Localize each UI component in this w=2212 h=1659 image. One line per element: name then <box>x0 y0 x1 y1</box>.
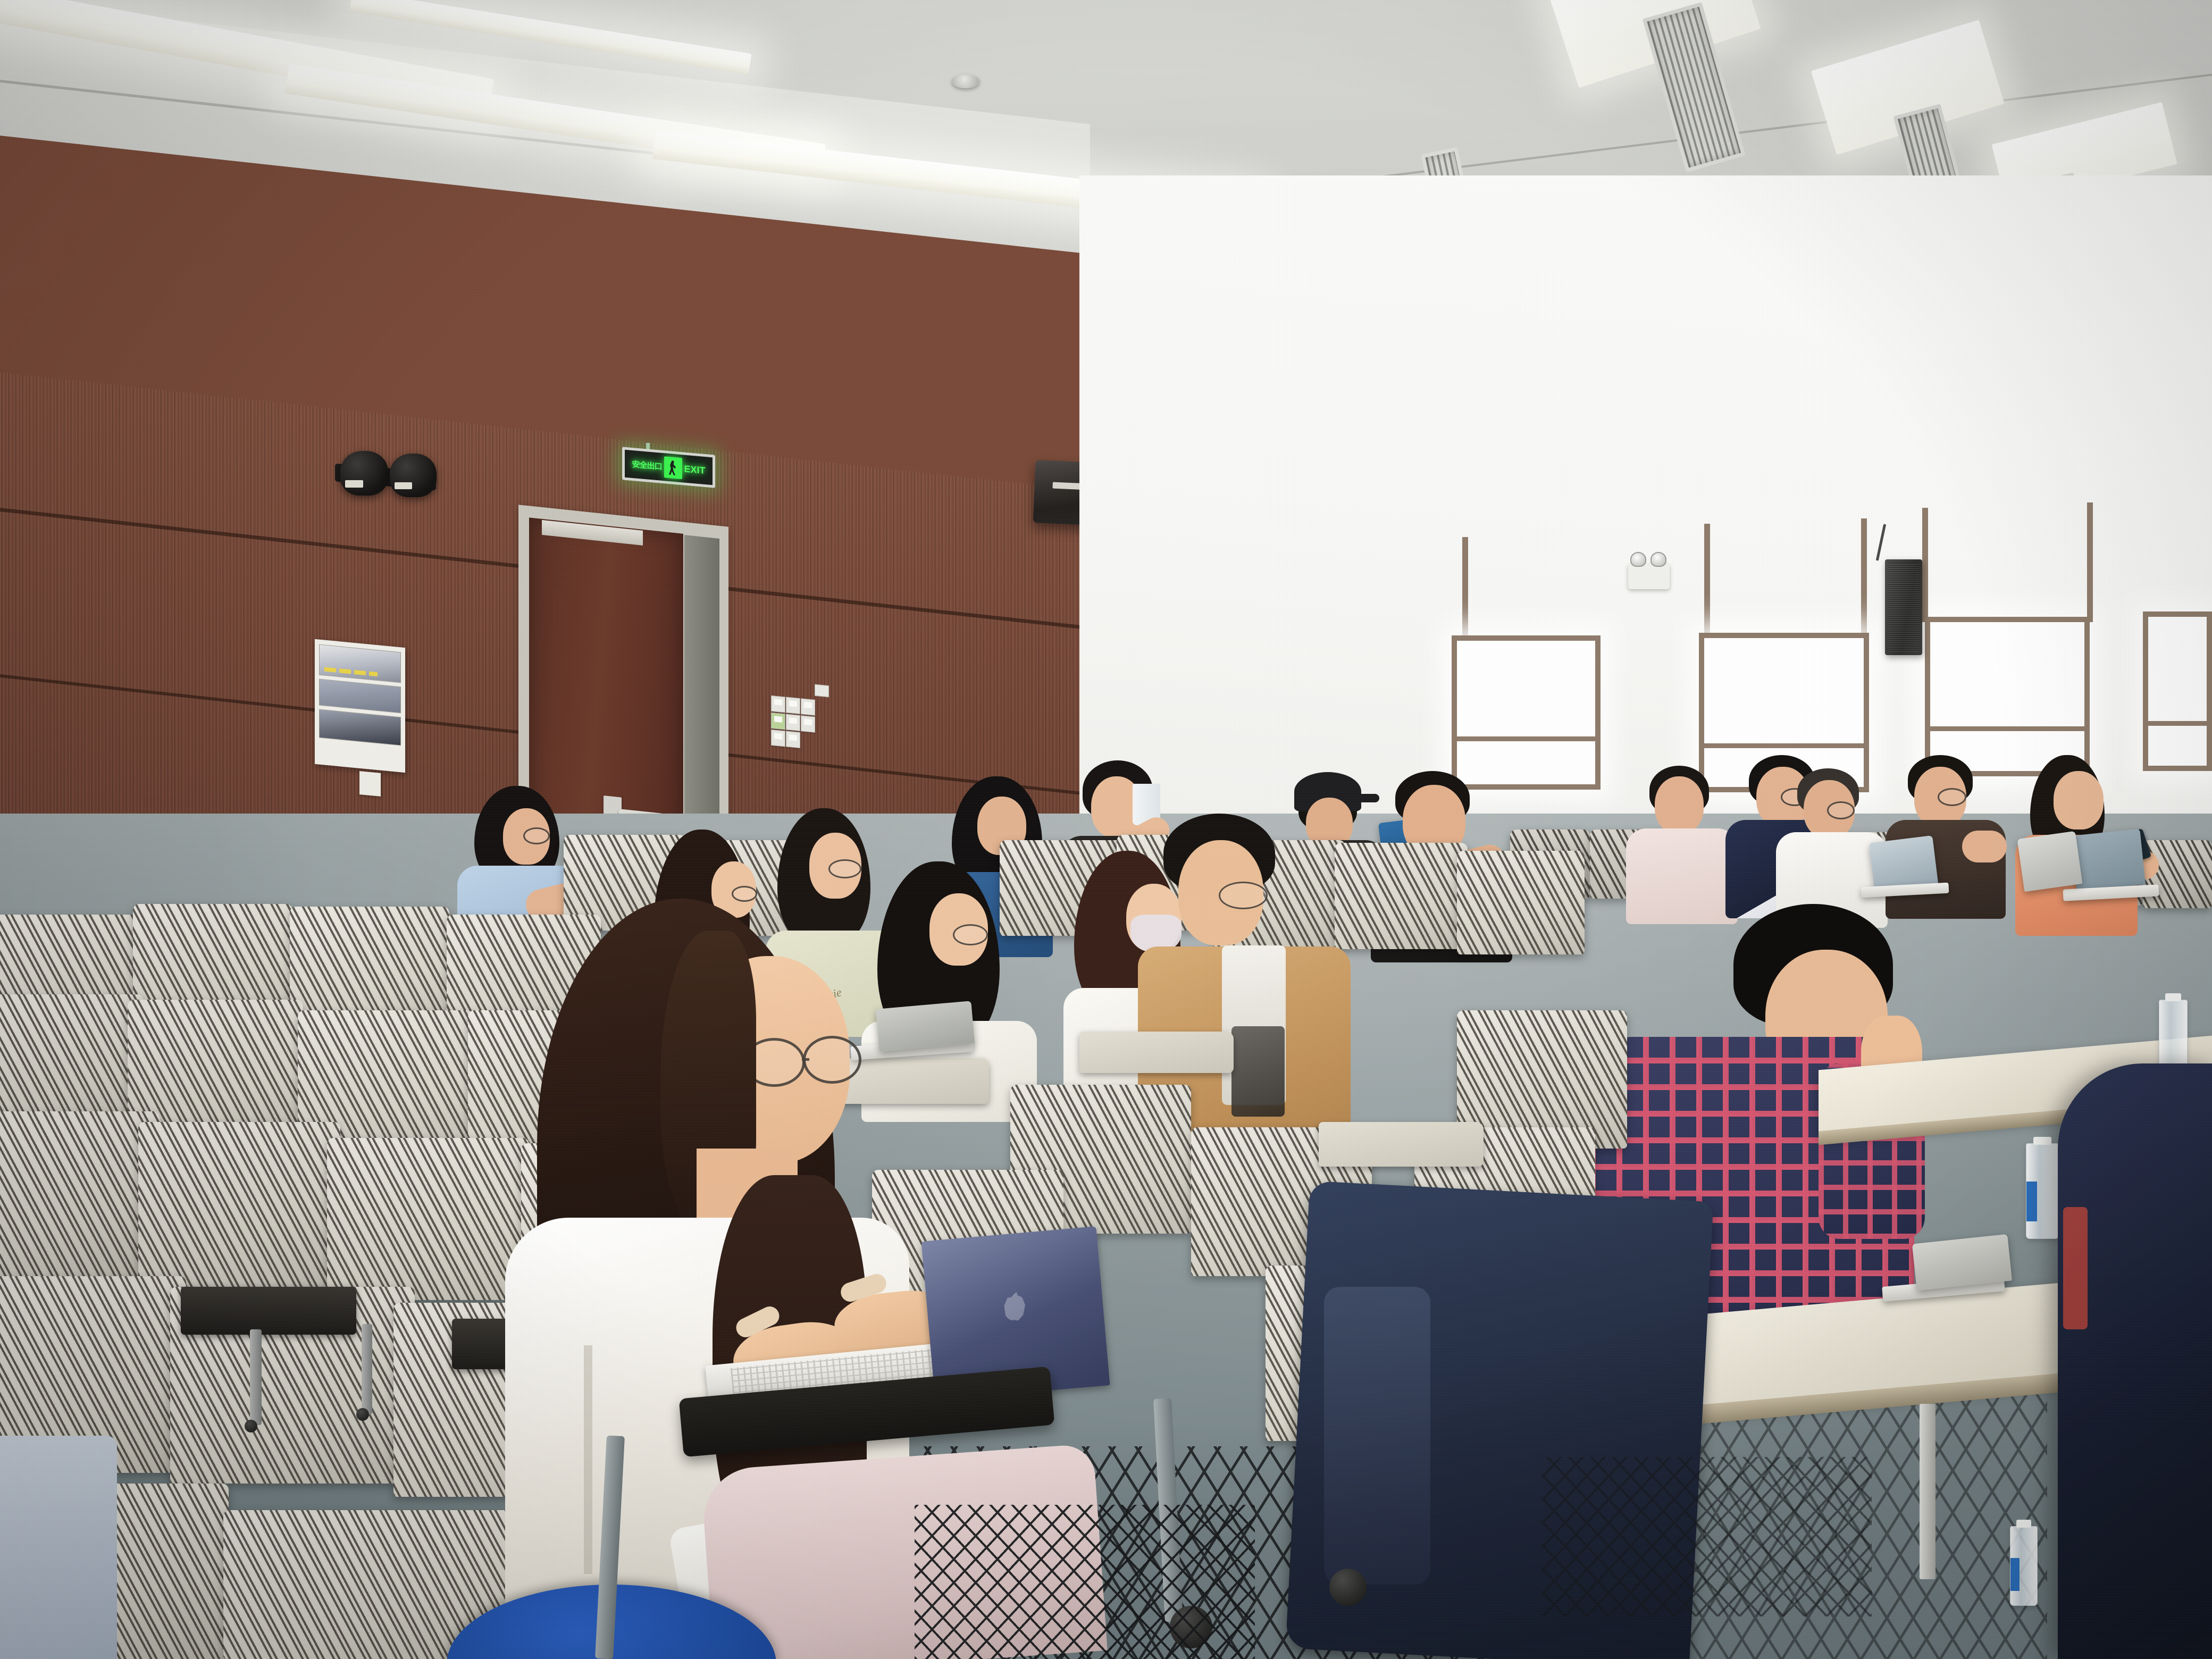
chair-tablet-arm[interactable] <box>1079 1032 1239 1074</box>
person-navy-coat <box>2058 1063 2212 1659</box>
window <box>1925 617 2090 776</box>
jacket-fold <box>1324 1287 1430 1585</box>
water-bottle[interactable] <box>2026 1143 2059 1239</box>
poster-image <box>319 644 401 683</box>
window-frame-post <box>1462 537 1468 641</box>
emergency-light <box>1628 564 1670 589</box>
chair-caster <box>1329 1569 1367 1606</box>
wall-notice-card <box>359 771 381 797</box>
under-seat-basket <box>915 1505 1255 1659</box>
window-frame-post <box>2087 502 2093 622</box>
laptop[interactable] <box>1912 1234 2012 1291</box>
water-bottle[interactable] <box>2010 1526 2038 1606</box>
wall-speaker-icon <box>390 454 437 497</box>
wall-poster <box>315 639 405 773</box>
chair[interactable] <box>1457 851 1585 954</box>
chair[interactable] <box>138 1122 340 1287</box>
tee-graphic-print <box>1231 1026 1285 1117</box>
poster-image <box>319 679 401 714</box>
laptop[interactable] <box>2017 831 2083 892</box>
wall-speaker-icon <box>340 451 388 496</box>
person-left-edge-partial <box>0 1436 117 1659</box>
light-switch[interactable] <box>771 730 785 747</box>
window-frame-post <box>1861 518 1867 638</box>
projector-label <box>1052 482 1082 490</box>
light-switch[interactable] <box>801 698 815 716</box>
window-frame-post <box>1704 524 1710 638</box>
window <box>2143 611 2212 771</box>
running-man-icon <box>664 456 682 479</box>
chair[interactable] <box>0 1111 160 1276</box>
window <box>1452 635 1601 790</box>
poster-image <box>319 709 401 746</box>
table-leg <box>1920 1404 1935 1579</box>
lecture-hall-photo: 安全出口 EXIT <box>0 0 2212 1659</box>
light-switch[interactable] <box>801 715 815 733</box>
wall-speaker-icon <box>1885 559 1922 655</box>
light-switch[interactable] <box>786 731 800 749</box>
light-switch[interactable] <box>771 696 785 713</box>
lanyard-strap <box>2063 1207 2088 1329</box>
light-switch[interactable] <box>786 697 800 715</box>
shirt-placket <box>584 1345 592 1574</box>
light-switch-top[interactable] <box>815 684 829 698</box>
exit-sign-english-text: EXIT <box>684 464 706 476</box>
light-switch-green[interactable] <box>771 713 785 730</box>
apple-logo-icon <box>1002 1291 1029 1322</box>
chair-tablet-arm[interactable] <box>1319 1122 1489 1168</box>
light-switch-panel[interactable] <box>771 696 817 751</box>
under-seat-basket <box>1542 1457 1872 1616</box>
glasses-bridge <box>802 1058 809 1061</box>
window-frame-post <box>1922 508 1928 622</box>
exit-sign-chinese-text: 安全出口 <box>632 460 661 471</box>
light-switch[interactable] <box>786 714 800 732</box>
smoke-detector-icon <box>952 74 979 88</box>
